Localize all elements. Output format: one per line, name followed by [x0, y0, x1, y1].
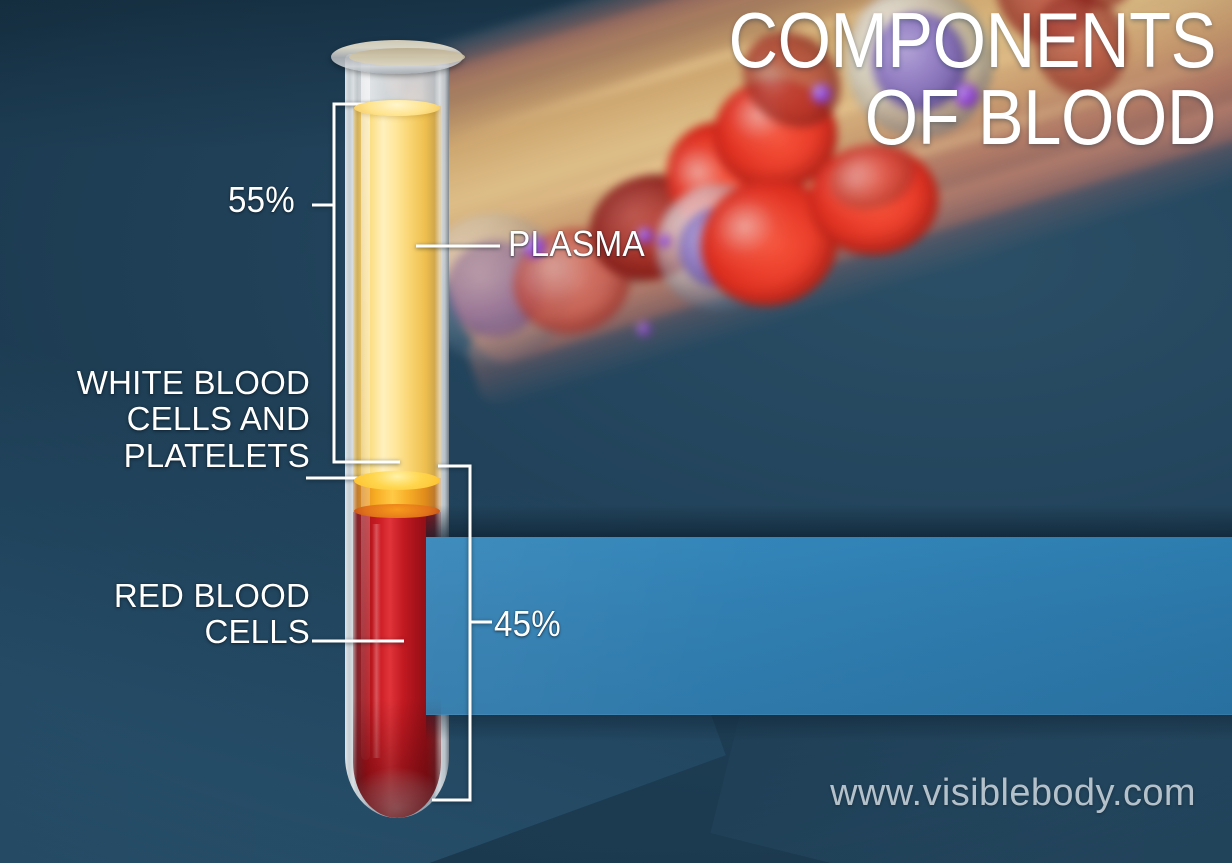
infographic-canvas: COMPONENTS OF BLOOD 55% 45% — [0, 0, 1232, 863]
red-blood-cell-layer-bottom-shading — [353, 698, 441, 818]
website-watermark: www.visiblebody.com — [830, 772, 1196, 815]
red-blood-cells-label: RED BLOOD CELLS — [20, 578, 310, 651]
white-blood-cells-and-platelets-label: WHITE BLOOD CELLS AND PLATELETS — [20, 365, 310, 474]
buffy-coat-top-surface — [354, 471, 440, 490]
red-cells-percent-label: 45% — [494, 605, 561, 643]
buffy-coat-bottom-edge — [354, 504, 440, 518]
plasma-percent-bracket — [334, 104, 422, 462]
plasma-label: PLASMA — [508, 225, 645, 263]
plasma-surface-meniscus — [354, 100, 440, 116]
plasma-percent-label: 55% — [228, 181, 295, 219]
